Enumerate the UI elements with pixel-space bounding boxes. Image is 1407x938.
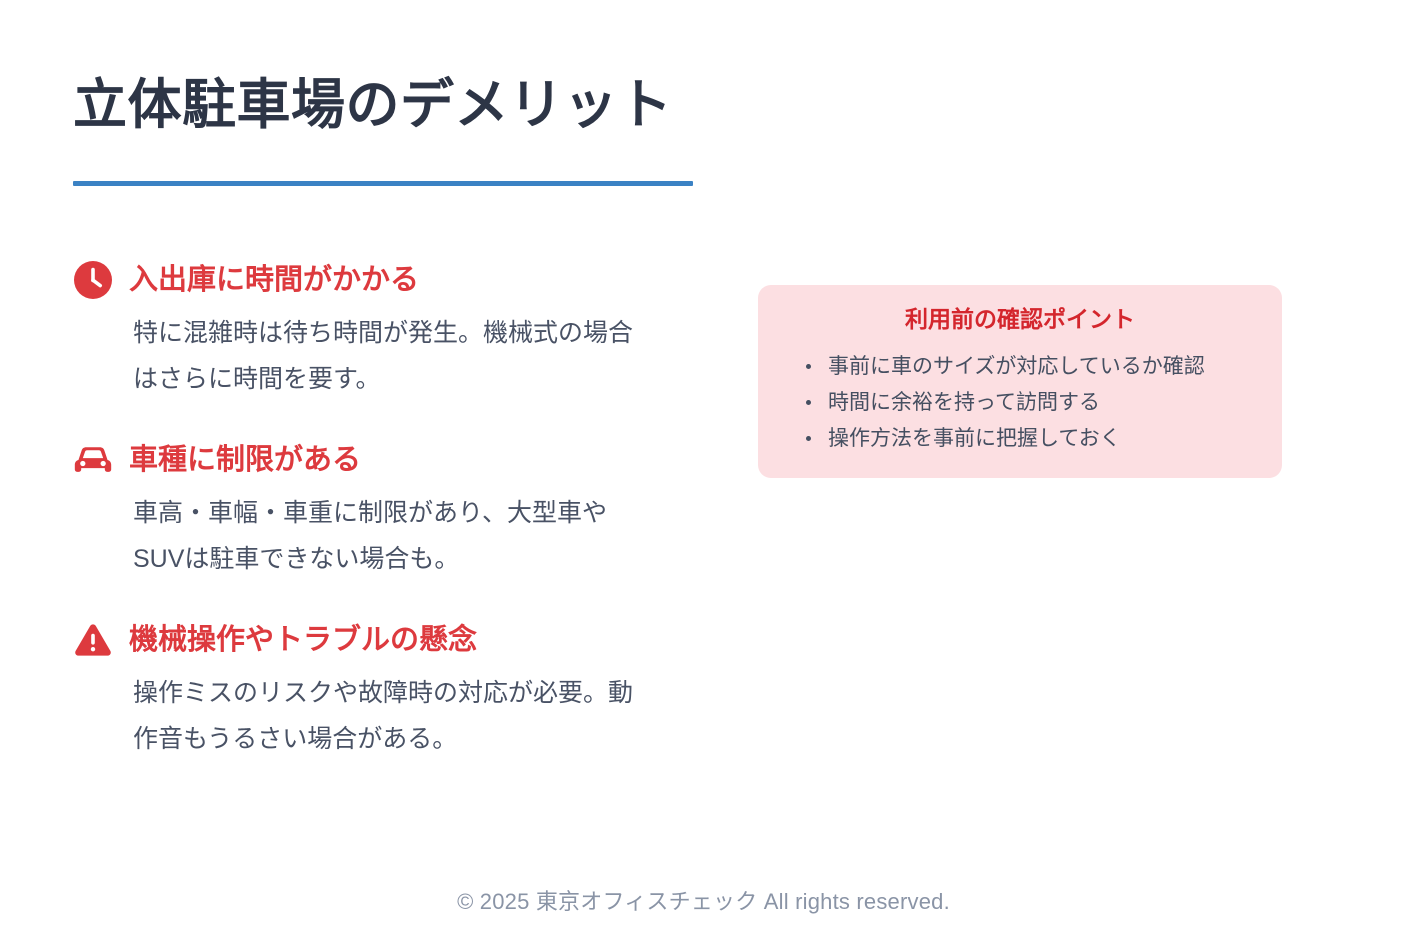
demerit-points-list: 入出庫に時間がかかる 特に混雑時は待ち時間が発生。機械式の場合はさらに時間を要す… xyxy=(73,258,673,762)
checklist-callout-box: 利用前の確認ポイント 事前に車のサイズが対応しているか確認 時間に余裕を持って訪… xyxy=(758,285,1282,478)
point-header: 機械操作やトラブルの懸念 xyxy=(73,618,673,662)
list-item: 事前に車のサイズが対応しているか確認 xyxy=(802,349,1256,385)
car-icon xyxy=(73,440,113,480)
list-item: 車種に制限がある 車高・車幅・車重に制限があり、大型車やSUVは駐車できない場合… xyxy=(73,438,673,582)
page-title: 立体駐車場のデメリット xyxy=(73,74,673,136)
title-underline-rule xyxy=(73,181,693,186)
list-item: 機械操作やトラブルの懸念 操作ミスのリスクや故障時の対応が必要。動作音もうるさい… xyxy=(73,618,673,762)
point-header: 入出庫に時間がかかる xyxy=(73,258,673,302)
list-item: 時間に余裕を持って訪問する xyxy=(802,385,1256,421)
point-title: 入出庫に時間がかかる xyxy=(129,263,419,298)
warning-triangle-icon xyxy=(73,620,113,660)
callout-checklist: 事前に車のサイズが対応しているか確認 時間に余裕を持って訪問する 操作方法を事前… xyxy=(784,349,1256,457)
point-title: 車種に制限がある xyxy=(129,443,361,478)
list-item: 入出庫に時間がかかる 特に混雑時は待ち時間が発生。機械式の場合はさらに時間を要す… xyxy=(73,258,673,402)
point-description: 車高・車幅・車重に制限があり、大型車やSUVは駐車できない場合も。 xyxy=(133,491,653,582)
point-description: 特に混雑時は待ち時間が発生。機械式の場合はさらに時間を要す。 xyxy=(133,311,653,402)
point-header: 車種に制限がある xyxy=(73,438,673,482)
footer-copyright: © 2025 東京オフィスチェック All rights reserved. xyxy=(0,884,1407,916)
callout-title: 利用前の確認ポイント xyxy=(784,305,1256,335)
point-title: 機械操作やトラブルの懸念 xyxy=(129,623,477,658)
point-description: 操作ミスのリスクや故障時の対応が必要。動作音もうるさい場合がある。 xyxy=(133,671,653,762)
list-item: 操作方法を事前に把握しておく xyxy=(802,421,1256,457)
clock-icon xyxy=(73,260,113,300)
